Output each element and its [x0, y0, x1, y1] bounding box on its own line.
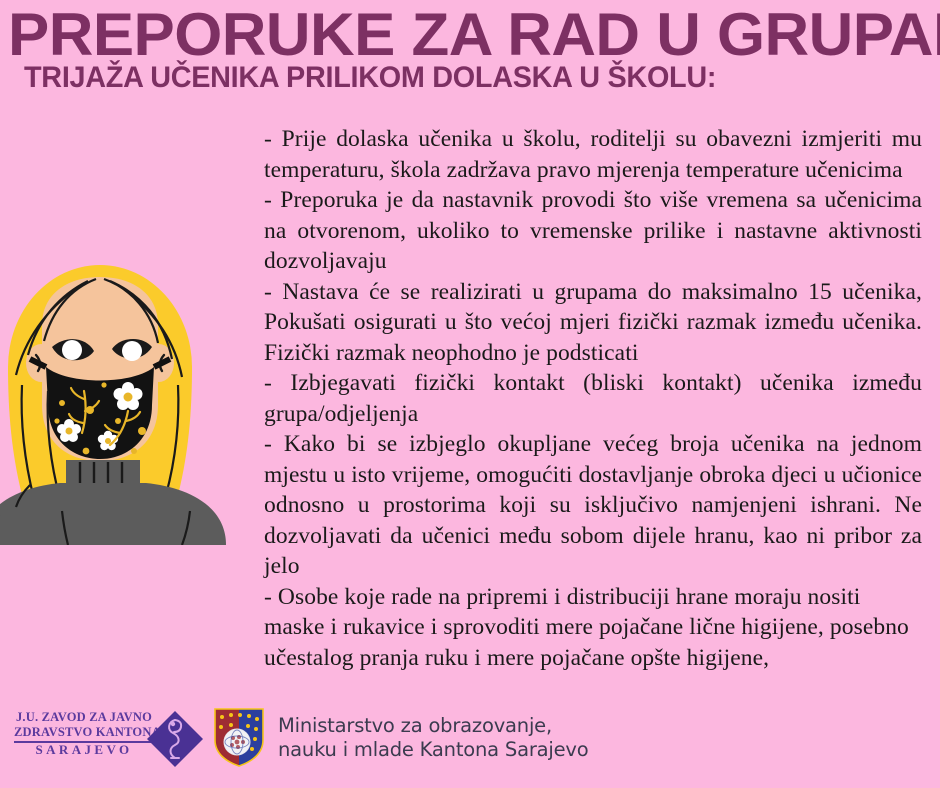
ministry-logo-line-2: nauku i mlade Kantona Sarajevo — [278, 738, 589, 762]
recommendation-item: - Prije dolaska učenika u školu, roditel… — [264, 124, 922, 185]
poster-footer: J.U. ZAVOD ZA JAVNO ZDRAVSTVO KANTONA SA… — [0, 696, 940, 788]
recommendation-item: - Izbjegavati fizički kontakt (bliski ko… — [264, 368, 922, 429]
ministry-logo-text: Ministarstvo za obrazovanje, nauku i mla… — [278, 714, 589, 762]
recommendations-text-block: - Prije dolaska učenika u školu, roditel… — [264, 124, 922, 673]
poster-header: PREPORUKE ZA RAD U GRUPAMA TRIJAŽA UČENI… — [0, 0, 940, 104]
student-illustration — [0, 255, 255, 545]
ministry-logo: Ministarstvo za obrazovanje, nauku i mla… — [212, 706, 572, 774]
institute-logo-text: J.U. ZAVOD ZA JAVNO ZDRAVSTVO KANTONA SA… — [14, 710, 154, 757]
sweater-body — [0, 483, 226, 545]
recommendation-item: - Preporuka je da nastavnik provodi što … — [264, 185, 922, 277]
caduceus-diamond-icon — [144, 708, 206, 770]
recommendation-item: - Osobe koje rade na pripremi i distribu… — [264, 582, 922, 674]
page-subtitle: TRIJAŽA UČENIKA PRILIKOM DOLASKA U ŠKOLU… — [24, 62, 716, 94]
recommendation-item: - Nastava će se realizirati u grupama do… — [264, 277, 922, 369]
ministry-logo-line-1: Ministarstvo za obrazovanje, — [278, 714, 589, 738]
recommendation-item: - Kako bi se izbjeglo okupljane većeg br… — [264, 429, 922, 582]
page-title: PREPORUKE ZA RAD U GRUPAMA — [8, 6, 940, 64]
institute-logo-line-2: ZDRAVSTVO KANTONA — [14, 725, 154, 740]
institute-logo-line-1: J.U. ZAVOD ZA JAVNO — [14, 710, 154, 725]
institute-of-public-health-logo: J.U. ZAVOD ZA JAVNO ZDRAVSTVO KANTONA SA… — [14, 708, 204, 774]
ministry-shield-icon — [212, 706, 266, 768]
